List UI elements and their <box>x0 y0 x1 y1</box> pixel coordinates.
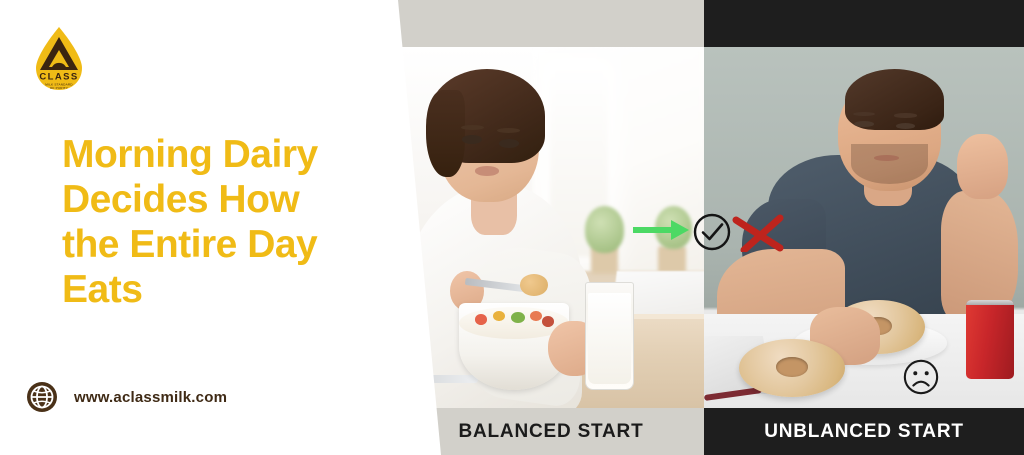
sad-face-circle-icon <box>902 358 940 396</box>
red-x-icon <box>730 210 786 252</box>
headline-line-1: Morning Dairy <box>62 132 422 177</box>
milk-drop-logo-icon[interactable]: CLASS MILK STANDARD OF PURITY <box>28 26 90 92</box>
man-hand-on-head <box>957 134 1008 199</box>
cereal-piece <box>530 311 542 322</box>
svg-text:CLASS: CLASS <box>39 72 78 83</box>
man-eye-right <box>896 123 915 129</box>
website-url[interactable]: www.aclassmilk.com <box>74 389 227 406</box>
woman-eye-right <box>499 139 519 148</box>
spoon-bowl-cereal <box>520 274 548 296</box>
woman-brow-right <box>497 128 520 133</box>
panel-top-band-right <box>704 0 1024 47</box>
caption-balanced-start: BALANCED START <box>398 408 704 455</box>
woman-brow-left <box>461 125 484 130</box>
poster-canvas: BALANCED START <box>0 0 1024 455</box>
globe-icon <box>26 381 58 413</box>
panel-top-band-left <box>398 0 704 47</box>
man-brow-right <box>894 113 916 117</box>
donut-on-desk <box>739 339 845 397</box>
cereal-piece <box>542 316 554 327</box>
page-title: Morning Dairy Decides How the Entire Day… <box>62 132 422 312</box>
headline-line-2: Decides How <box>62 177 422 222</box>
plant-1 <box>585 206 625 253</box>
green-right-arrow-icon <box>633 218 689 242</box>
caption-unbalanced-start: UNBLANCED START <box>704 408 1024 455</box>
headline-line-3: the Entire Day <box>62 222 422 267</box>
left-content: CLASS MILK STANDARD OF PURITY Morning Da… <box>0 0 440 455</box>
glass-of-milk <box>585 282 634 390</box>
headline-line-4: Eats <box>62 267 422 312</box>
soda-can <box>966 300 1014 379</box>
footer-website[interactable]: www.aclassmilk.com <box>26 381 227 413</box>
man-beard-shadow <box>851 144 928 184</box>
woman-lips <box>475 166 499 175</box>
man-eye-left <box>854 121 873 127</box>
svg-text:OF PURITY: OF PURITY <box>50 86 68 90</box>
check-circle-icon <box>692 212 732 252</box>
cereal-piece <box>475 314 487 325</box>
